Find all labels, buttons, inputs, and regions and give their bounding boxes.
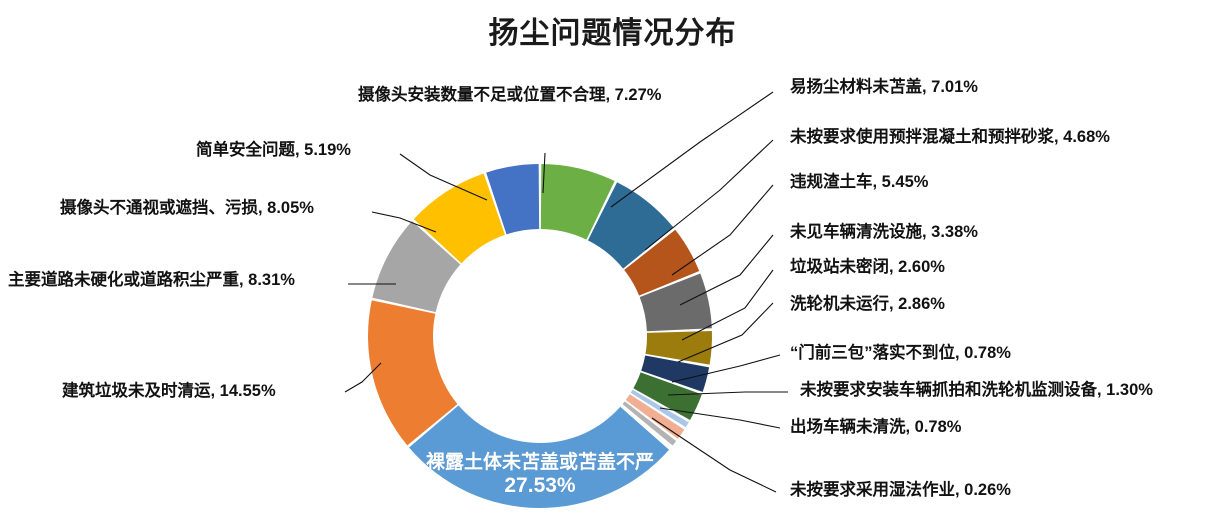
- slice-label-right-6: 洗轮机未运行, 2.86%: [790, 295, 945, 314]
- slice-label-left-4: 建筑垃圾未及时清运, 14.55%: [62, 382, 276, 401]
- slice-label-right-5: 垃圾站未密闭, 2.60%: [790, 258, 945, 277]
- slice-label-top-center: 摄像头安装数量不足或位置不合理, 7.27%: [358, 86, 661, 105]
- slice-label-right-7: “门前三包”落实不到位, 0.78%: [790, 344, 1011, 363]
- slice-label-right-8: 未按要求安装车辆抓拍和洗轮机监测设备, 1.30%: [800, 381, 1153, 400]
- slice-label-right-10: 未按要求采用湿法作业, 0.26%: [790, 481, 1011, 500]
- chart-container: 扬尘问题情况分布 摄像头安装数量不足或位置不合理, 7.27% 简单安全问题, …: [0, 0, 1225, 532]
- leader-line-right-1: [611, 92, 773, 207]
- slice-label-inside-name: 裸露土体未苫盖或苫盖不严: [390, 452, 690, 474]
- slice-label-right-2: 未按要求使用预拌混凝土和预拌砂浆, 4.68%: [790, 128, 1110, 147]
- slice-label-right-4: 未见车辆清洗设施, 3.38%: [790, 223, 978, 242]
- slice-label-right-1: 易扬尘材料未苫盖, 7.01%: [790, 78, 978, 97]
- slice-label-inside-largest: 裸露土体未苫盖或苫盖不严 27.53%: [390, 452, 690, 498]
- slice-label-right-9: 出场车辆未清洗, 0.78%: [790, 418, 961, 437]
- slice-label-left-2: 摄像头不通视或遮挡、污损, 8.05%: [60, 199, 314, 218]
- slice-label-left-3: 主要道路未硬化或道路积尘严重, 8.31%: [8, 271, 295, 290]
- slice-label-left-1: 简单安全问题, 5.19%: [196, 141, 351, 160]
- slice-label-right-3: 违规渣土车, 5.45%: [790, 173, 928, 192]
- slice-label-inside-value: 27.53%: [390, 474, 690, 498]
